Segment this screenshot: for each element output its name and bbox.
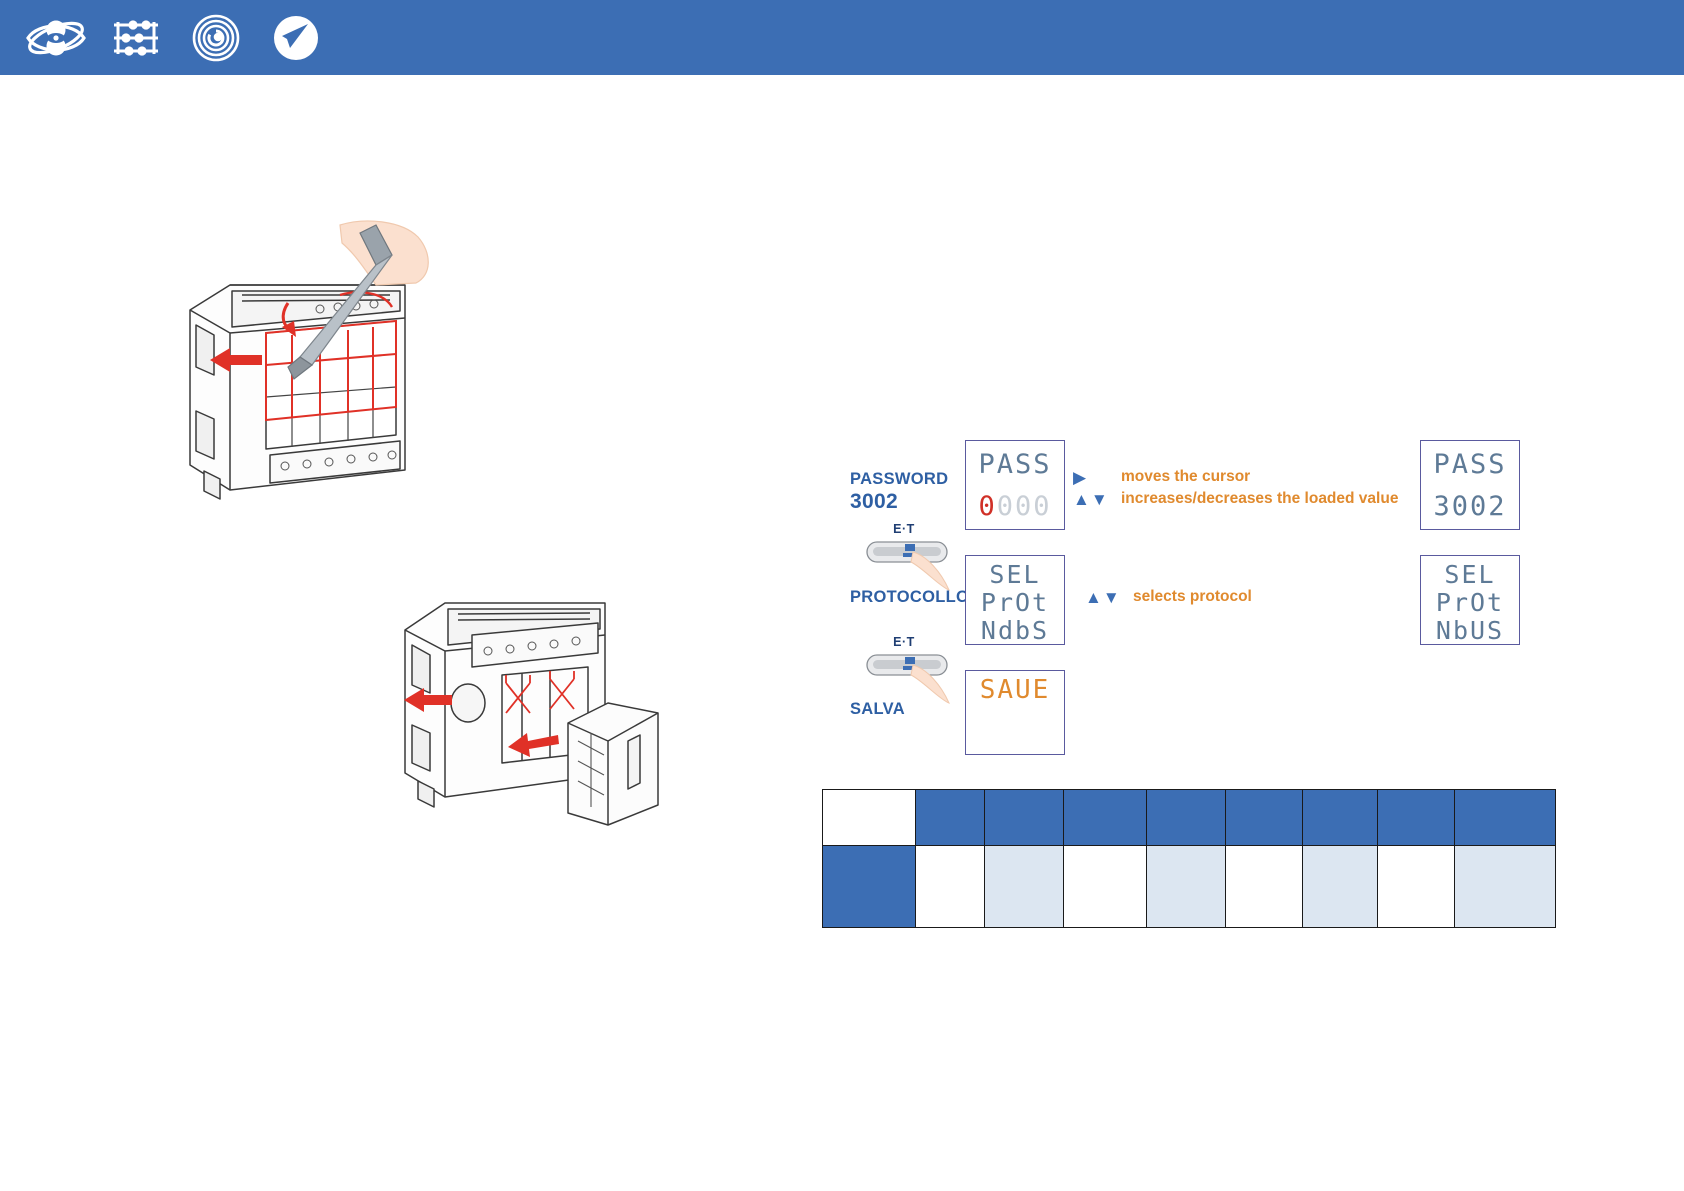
hint-move-cursor-text: moves the cursor [1121, 468, 1250, 486]
table-cell [823, 846, 916, 928]
lcd-password-entry: PASS 0000 [965, 440, 1065, 530]
table-header-cell [985, 790, 1064, 846]
table-cell [1147, 846, 1226, 928]
table-header-cell [1064, 790, 1147, 846]
table-cell [1303, 846, 1378, 928]
lcd-password-result: PASS 3002 [1420, 440, 1520, 530]
table-cell [985, 846, 1064, 928]
eye-globe-icon [22, 12, 90, 64]
step-label-password: PASSWORD [850, 470, 948, 489]
abacus-icon [102, 12, 170, 64]
table-header-cell [1303, 790, 1378, 846]
table-header-row [823, 790, 1556, 846]
password-value: 3002 [850, 490, 898, 514]
table-cell [1064, 846, 1147, 928]
hint-increase-decrease: ▲▼ increases/decreases the loaded value [1073, 490, 1398, 508]
header-icon-group [22, 12, 330, 64]
table-header-cell [916, 790, 985, 846]
spec-table [822, 789, 1556, 928]
table-cell [1378, 846, 1455, 928]
enter-key-2-label: E·T [865, 635, 943, 649]
lcd-cursor-digit: 0 [978, 491, 996, 522]
table-cell [916, 846, 985, 928]
hint-move-cursor: ▶ moves the cursor [1073, 468, 1250, 486]
lcd-protocol-result-line1: SEL [1421, 562, 1519, 587]
lcd-protocol-select-line1: SEL [966, 562, 1064, 587]
lcd-save-line1: SAUE [966, 677, 1064, 703]
device-rear-screwdriver-illustration [170, 215, 650, 525]
lcd-remaining-digits: 000 [997, 491, 1052, 522]
device-module-insert-illustration [390, 575, 750, 840]
table-header-cell [1455, 790, 1556, 846]
enter-key-1-label: E·T [865, 522, 943, 536]
table-cell [1226, 846, 1303, 928]
lcd-protocol-result-line2: PrOt [1421, 590, 1519, 615]
lcd-password-result-line1: PASS [1421, 451, 1519, 478]
lcd-protocol-result-line3: NbUS [1421, 618, 1519, 643]
spiral-target-icon [182, 12, 250, 64]
hint-increase-decrease-text: increases/decreases the loaded value [1121, 490, 1398, 508]
lcd-password-entry-line1: PASS [966, 451, 1064, 478]
table-header-cell [1226, 790, 1303, 846]
right-arrow-icon: ▶ [1073, 469, 1121, 486]
lcd-password-entry-line2: 0000 [966, 493, 1064, 520]
lcd-protocol-select-line3: NdbS [966, 618, 1064, 643]
up-down-arrow-icon-2: ▲▼ [1085, 589, 1133, 606]
header-bar [0, 0, 1684, 75]
table-header-cell [1378, 790, 1455, 846]
lcd-protocol-result: SEL PrOt NbUS [1420, 555, 1520, 645]
lcd-protocol-select-line2: PrOt [966, 590, 1064, 615]
configuration-sequence-diagram: PASSWORD 3002 PROTOCOLLO SALVA E·T E·T P… [845, 430, 1565, 770]
table-row [823, 846, 1556, 928]
lcd-protocol-select: SEL PrOt NdbS [965, 555, 1065, 645]
table-cell [1455, 846, 1556, 928]
lcd-password-result-line2: 3002 [1421, 493, 1519, 520]
lcd-save: SAUE [965, 670, 1065, 755]
up-down-arrow-icon: ▲▼ [1073, 491, 1121, 508]
table-header-cell [823, 790, 916, 846]
compass-needle-icon [262, 12, 330, 64]
table-header-cell [1147, 790, 1226, 846]
hint-select-protocol-text: selects protocol [1133, 588, 1252, 606]
hint-select-protocol: ▲▼ selects protocol [1085, 588, 1252, 606]
